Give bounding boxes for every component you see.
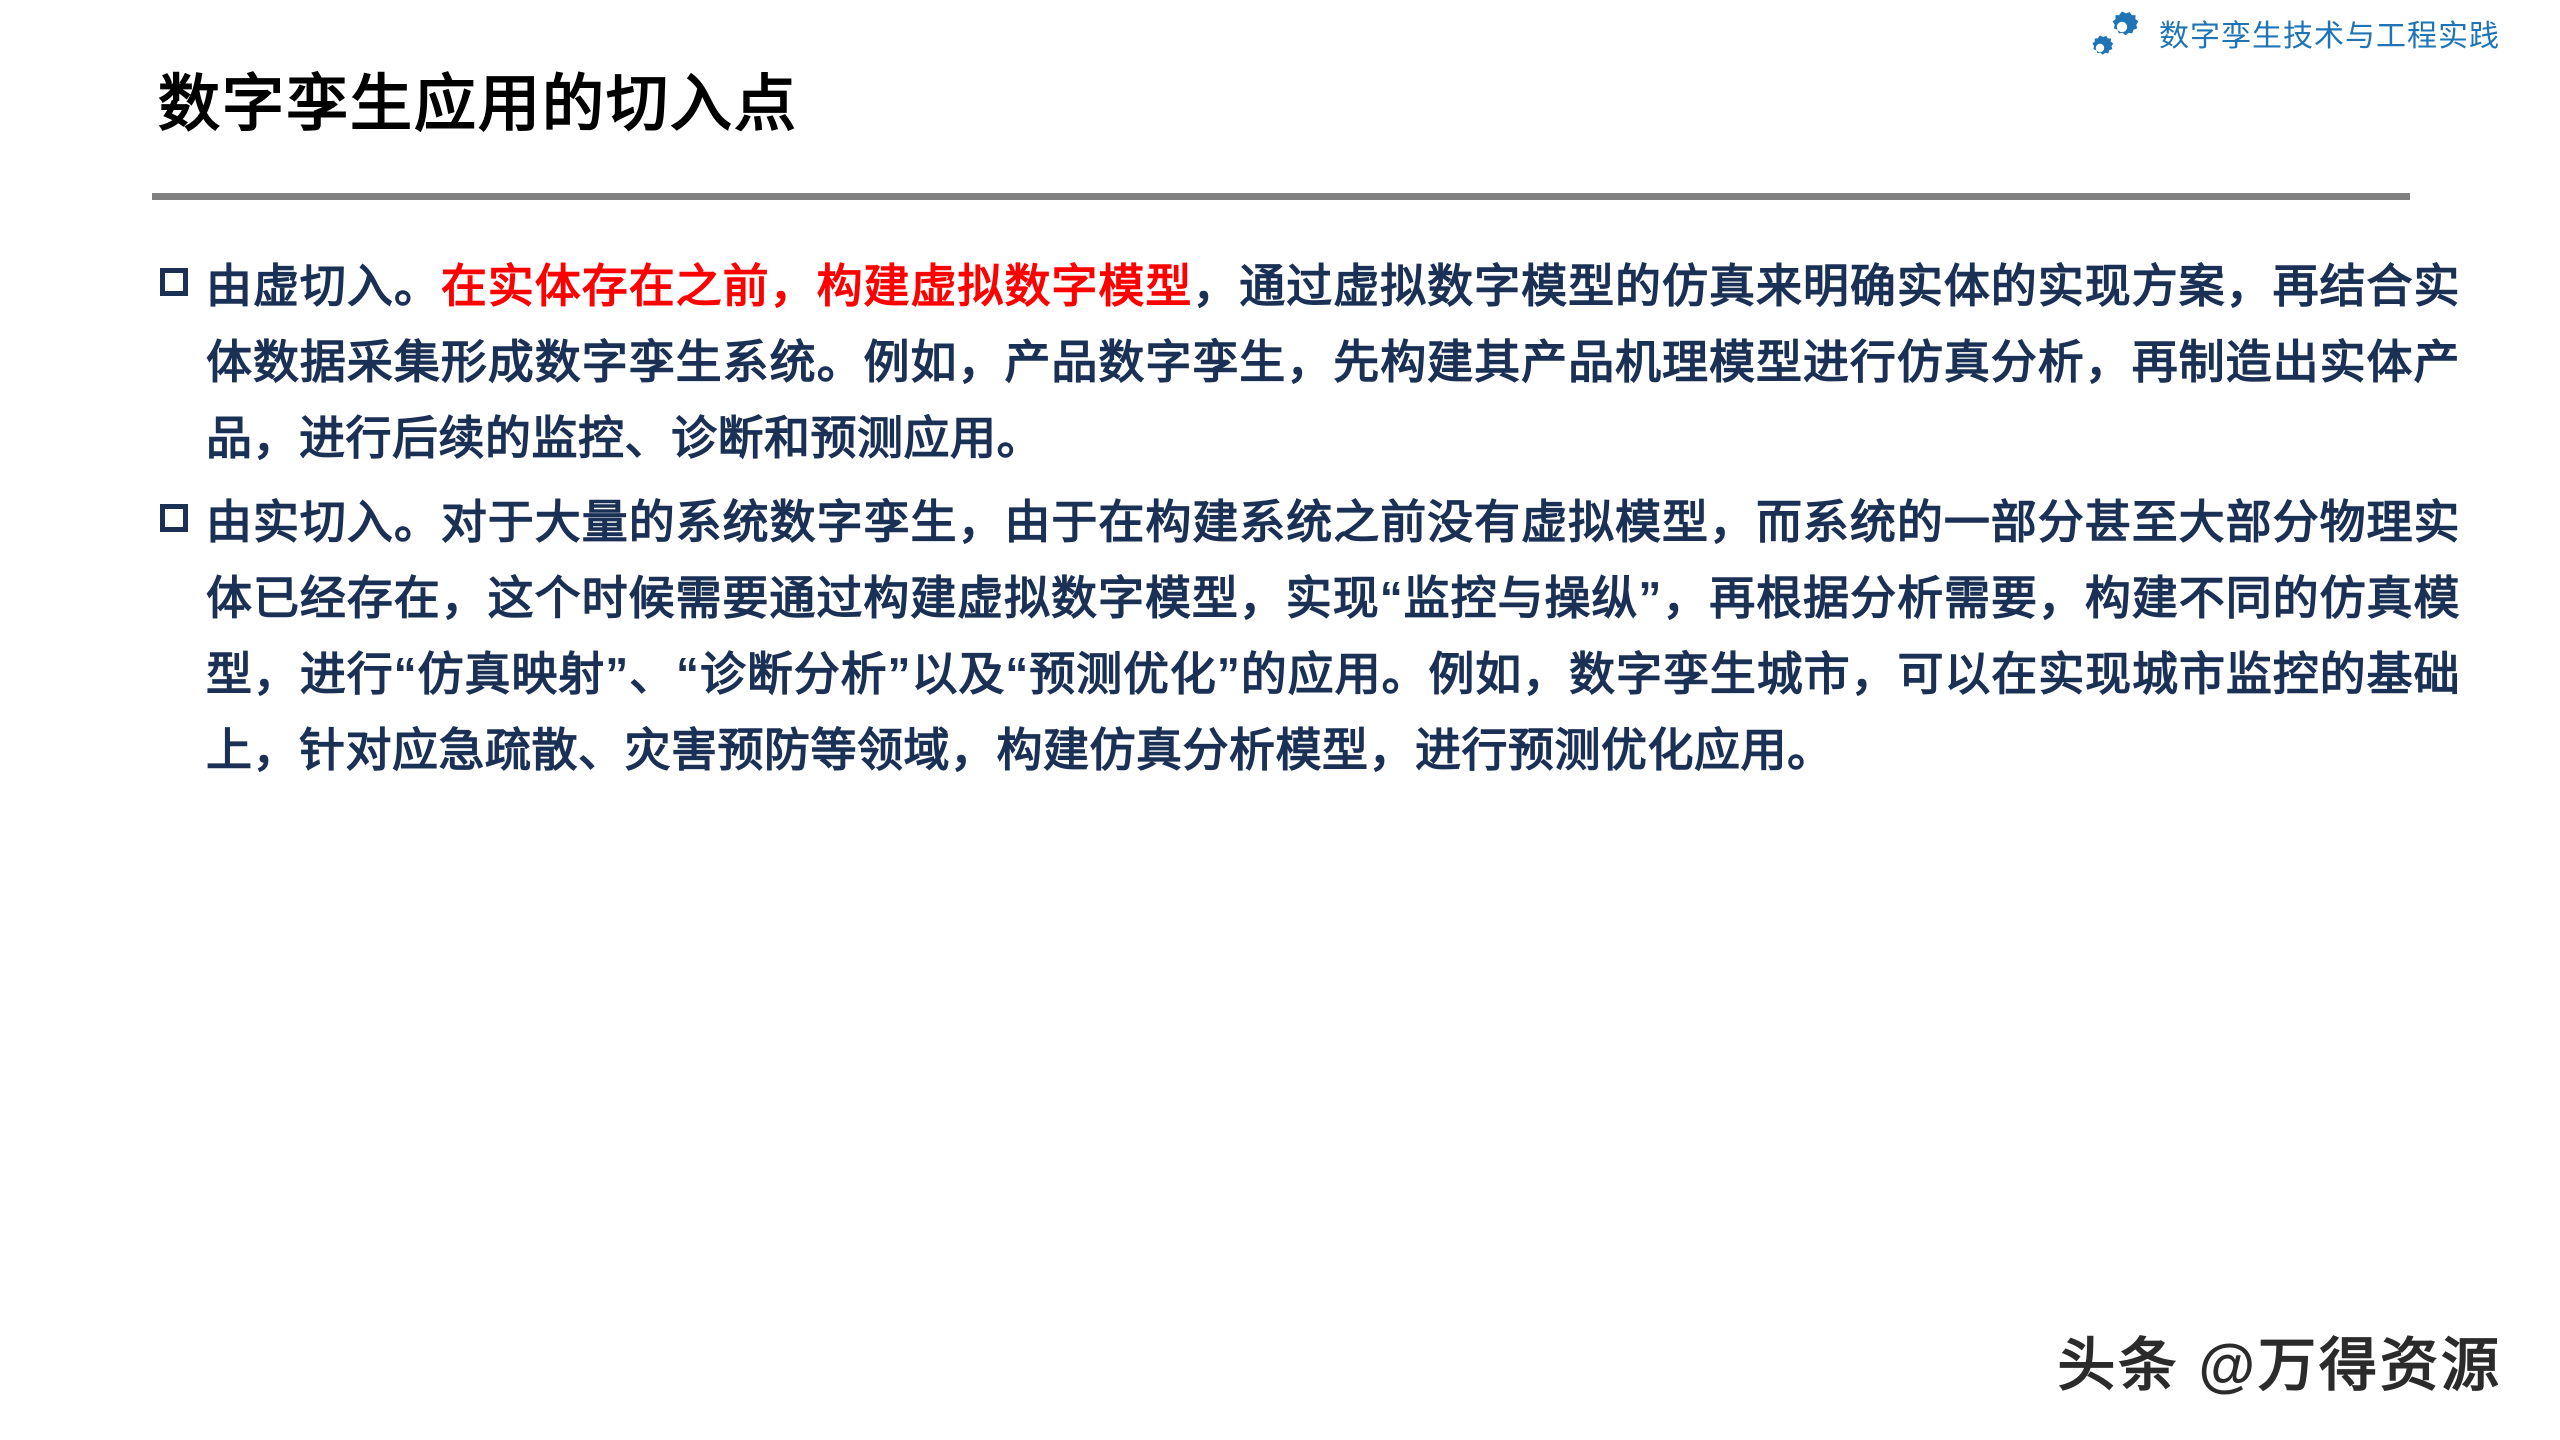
bullet-1-segment-2-highlight: 在实体存在之前，构建虚拟数字模型 <box>441 260 1193 312</box>
bullet-paragraph-2: 由实切入。对于大量的系统数字孪生，由于在构建系统之前没有虚拟模型，而系统的一部分… <box>206 484 2460 788</box>
bullet-marker-square-icon <box>160 268 188 296</box>
slide-canvas: 数字孪生技术与工程实践 数字孪生应用的切入点 由虚切入。在实体存在之前，构建虚拟… <box>0 0 2560 1440</box>
bullet-item-1: 由虚切入。在实体存在之前，构建虚拟数字模型，通过虚拟数字模型的仿真来明确实体的实… <box>160 248 2460 476</box>
bullet-1-segment-1: 由虚切入。 <box>206 260 441 312</box>
bullet-2-segment-1: 由实切入。对于大量的系统数字孪生，由于在构建系统之前没有虚拟模型，而系统的一部分… <box>206 496 2460 776</box>
bullet-item-2: 由实切入。对于大量的系统数字孪生，由于在构建系统之前没有虚拟模型，而系统的一部分… <box>160 484 2460 788</box>
brand-title-text: 数字孪生技术与工程实践 <box>2159 22 2500 52</box>
page-title: 数字孪生应用的切入点 <box>158 72 798 137</box>
title-divider <box>152 193 2410 200</box>
content-body: 由虚切入。在实体存在之前，构建虚拟数字模型，通过虚拟数字模型的仿真来明确实体的实… <box>160 248 2460 796</box>
gears-logo-icon <box>2085 11 2145 63</box>
brand-header: 数字孪生技术与工程实践 <box>2085 8 2500 66</box>
watermark-text: 头条 @万得资源 <box>2057 1318 2502 1402</box>
bullet-paragraph-1: 由虚切入。在实体存在之前，构建虚拟数字模型，通过虚拟数字模型的仿真来明确实体的实… <box>206 248 2460 476</box>
bullet-marker-square-icon <box>160 504 188 532</box>
